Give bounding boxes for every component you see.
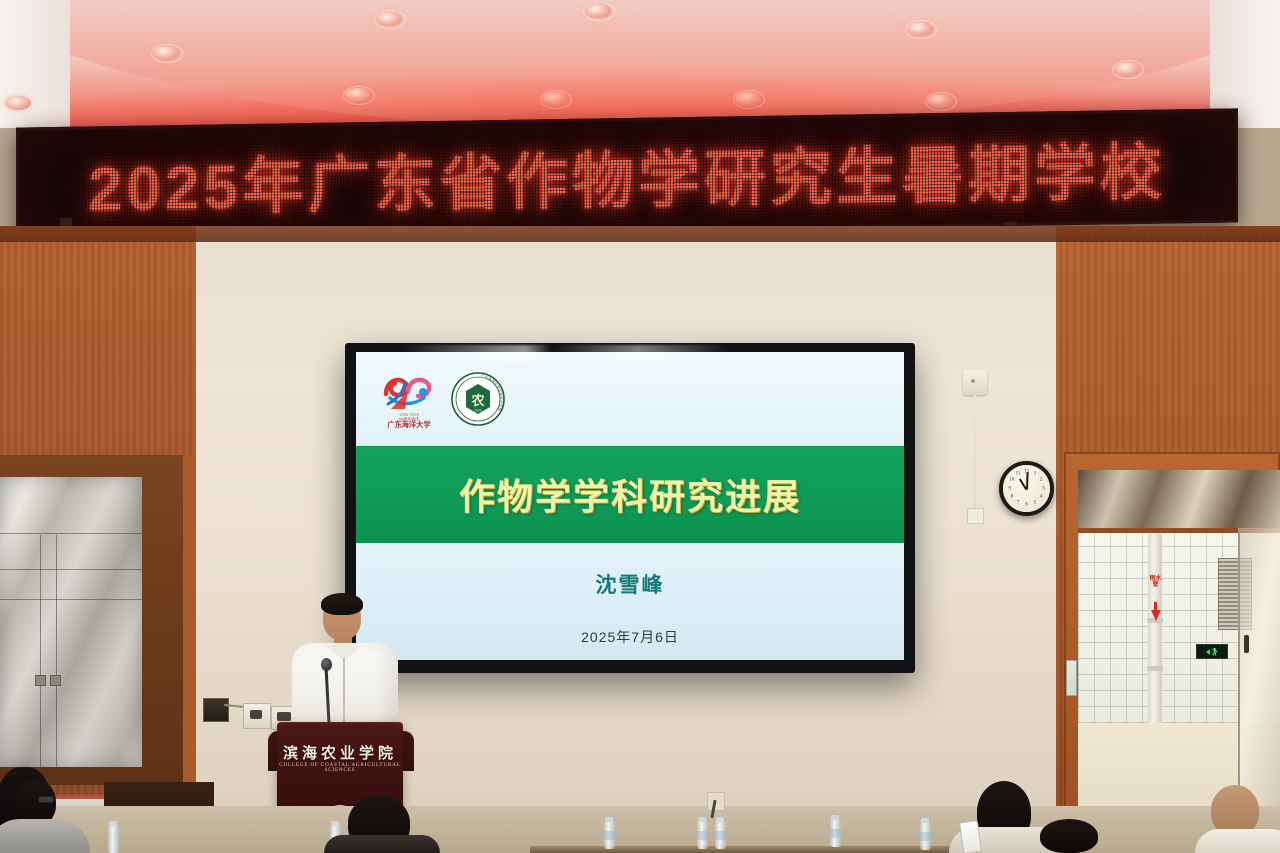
bottle-label bbox=[715, 831, 726, 840]
wall-clock: 12 1 2 3 4 5 6 7 8 9 10 11 bbox=[999, 461, 1054, 516]
cabinet-seam bbox=[0, 533, 142, 534]
podium-name-cn: 滨海农业学院 bbox=[277, 742, 403, 763]
clock-numeral: 8 bbox=[1011, 494, 1014, 499]
left-equipment-recess bbox=[0, 455, 196, 785]
clock-numeral: 1 bbox=[1034, 471, 1037, 476]
pipe-joint bbox=[1147, 666, 1163, 671]
switch-face-icon bbox=[277, 712, 291, 721]
ceiling bbox=[0, 0, 1280, 128]
clock-numeral: 5 bbox=[1034, 501, 1037, 506]
clock-numeral: 11 bbox=[1016, 471, 1021, 476]
podium-name-en: COLLEGE OF COASTAL AGRICULTURAL SCIENCES bbox=[277, 763, 403, 773]
stainless-steel-cabinet[interactable] bbox=[0, 477, 142, 767]
clock-numeral: 4 bbox=[1040, 494, 1043, 499]
led-banner-text: 2025年广东省作物学研究生暑期学校 bbox=[19, 120, 1235, 229]
bottle-label bbox=[604, 831, 615, 840]
downlight bbox=[376, 12, 402, 26]
slide-title-band: 作物学学科研究进展 bbox=[356, 446, 904, 543]
downlight bbox=[735, 92, 761, 106]
slide-header: 1935-2025 90周年校庆 广东海洋大学 农 1935 广东 bbox=[356, 352, 904, 446]
door-side-placard bbox=[1066, 660, 1077, 696]
slide-footer: 沈雪峰 2025年7月6日 bbox=[356, 543, 904, 660]
cabinet-seam bbox=[0, 569, 142, 570]
slide-speaker-name: 沈雪峰 bbox=[596, 569, 665, 599]
slide: 1935-2025 90周年校庆 广东海洋大学 农 1935 广东 bbox=[356, 352, 904, 660]
audience-head bbox=[1040, 819, 1098, 853]
downlight bbox=[907, 22, 933, 36]
clock-numeral: 2 bbox=[1040, 478, 1043, 483]
control-cable bbox=[974, 395, 976, 511]
clock-numeral: 9 bbox=[1008, 486, 1011, 491]
presenter-hair bbox=[321, 593, 363, 615]
bottle-cap bbox=[921, 818, 929, 823]
audience-shoulders bbox=[1195, 829, 1280, 853]
bottle-label bbox=[830, 829, 841, 838]
presenter bbox=[290, 596, 400, 736]
clock-center-pin bbox=[1025, 487, 1028, 490]
downlight bbox=[542, 92, 568, 106]
downlight bbox=[153, 46, 179, 60]
bottle-cap bbox=[698, 817, 706, 822]
coastal-agriculture-college-seal: 农 1935 广东海洋大学滨海农业学院 bbox=[450, 371, 506, 427]
bottle-label bbox=[697, 831, 708, 840]
cabinet-seam bbox=[0, 599, 142, 600]
outlet-socket-icon bbox=[250, 710, 262, 719]
clock-numeral: 6 bbox=[1025, 503, 1028, 508]
drain-pipe bbox=[1148, 533, 1162, 728]
slide-title: 作物学学科研究进展 bbox=[459, 468, 801, 520]
downlight bbox=[345, 88, 371, 102]
downlight bbox=[1114, 62, 1140, 76]
door-handle[interactable] bbox=[1244, 635, 1249, 653]
wall-control-unit[interactable] bbox=[963, 370, 987, 395]
gdou-90-anniversary-logo: 1935-2025 90周年校庆 广东海洋大学 bbox=[378, 368, 440, 430]
led-banner-sign: 2025年广东省作物学研究生暑期学校 bbox=[16, 108, 1238, 241]
cabinet-handle[interactable] bbox=[35, 675, 46, 686]
bottle-label bbox=[920, 832, 931, 841]
bottle-cap bbox=[716, 817, 724, 822]
down-arrow-icon bbox=[1151, 610, 1161, 621]
running-man-icon bbox=[1212, 648, 1218, 656]
door-transom-glass bbox=[1078, 470, 1280, 533]
control-indicator-icon bbox=[971, 379, 975, 383]
wall-top-trim bbox=[0, 226, 1280, 242]
cabinet-door-edge bbox=[40, 535, 41, 767]
audience-head bbox=[1211, 785, 1259, 835]
downlight bbox=[5, 96, 31, 110]
lecture-hall-scene: 2025年广东省作物学研究生暑期学校 雨水管 bbox=[0, 0, 1280, 853]
water-bottle bbox=[108, 826, 119, 853]
ceiling-dome bbox=[0, 0, 1280, 128]
wall-outlet-plate[interactable] bbox=[967, 508, 984, 524]
cabinet-handle[interactable] bbox=[50, 675, 61, 686]
svg-text:农: 农 bbox=[470, 393, 484, 408]
clock-numeral: 7 bbox=[1017, 501, 1020, 506]
downlight bbox=[927, 94, 953, 108]
slide-date: 2025年7月6日 bbox=[581, 627, 679, 647]
exit-arrow-icon bbox=[1206, 649, 1210, 655]
bottle-cap bbox=[605, 817, 613, 822]
exit-sign bbox=[1196, 644, 1228, 659]
clock-numeral: 10 bbox=[1009, 478, 1014, 483]
audience-shoulders bbox=[324, 835, 440, 853]
presentation-screen[interactable]: 1935-2025 90周年校庆 广东海洋大学 农 1935 广东 bbox=[345, 343, 915, 673]
svg-text:广东海洋大学: 广东海洋大学 bbox=[387, 420, 430, 429]
wall-junction-box bbox=[203, 698, 229, 722]
pipe-label-text: 雨水管 bbox=[1149, 576, 1162, 588]
clock-face: 12 1 2 3 4 5 6 7 8 9 10 11 bbox=[1003, 465, 1050, 512]
bottle-cap bbox=[831, 815, 839, 820]
bottle-cap bbox=[331, 821, 339, 826]
svg-text:1935: 1935 bbox=[474, 408, 481, 412]
bottle-cap bbox=[109, 821, 117, 826]
gooseneck-microphone bbox=[321, 658, 332, 671]
clock-minute-hand bbox=[1026, 471, 1028, 488]
cabinet-door-edge bbox=[56, 535, 57, 767]
clock-numeral: 3 bbox=[1042, 486, 1045, 491]
downlight bbox=[585, 4, 611, 18]
eyeglasses-icon bbox=[38, 796, 54, 803]
